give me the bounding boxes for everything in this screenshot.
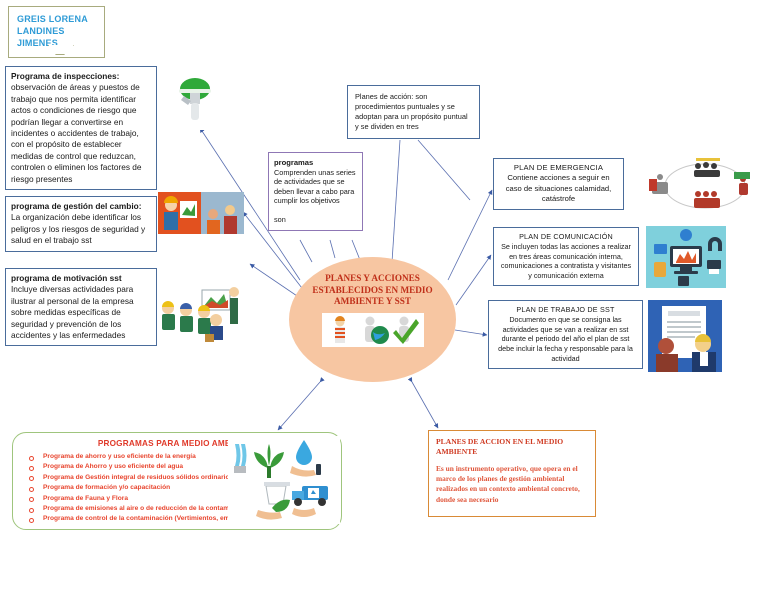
central-topic-ellipse: PLANES Y ACCIONES ESTABLECIDOS EN MEDIO …	[289, 257, 456, 382]
green-helmet-flashlight-image	[170, 70, 222, 130]
central-topic-title: PLANES Y ACCIONES ESTABLECIDOS EN MEDIO …	[310, 273, 436, 308]
safety-training-presentation-image	[158, 192, 244, 234]
box-planes-de-accion: Planes de acción: son procedimientos pun…	[347, 85, 480, 139]
box-plan-de-comunicacion: PLAN DE COMUNICACIÓN Se incluyen todas l…	[493, 227, 639, 286]
box-motivacion-body: Incluye diversas actividades para ilustr…	[11, 284, 134, 340]
box-comunicacion-body: Se incluyen todas las acciones a realiza…	[501, 242, 631, 280]
box-programa-motivacion-sst: programa de motivación sst Incluye diver…	[5, 268, 157, 346]
box-comunicacion-heading: PLAN DE COMUNICACIÓN	[499, 232, 633, 242]
work-plan-signing-image	[648, 300, 722, 372]
box-trabajo-sst-body: Documento en que se consigna las activid…	[498, 315, 633, 363]
emergency-cycle-diagram-image	[646, 152, 764, 215]
box-plan-de-emergencia: PLAN DE EMERGENCIA Contiene acciones a s…	[493, 158, 624, 210]
planes-medio-title: PLANES DE ACCION EN EL MEDIO AMBIENTE	[436, 437, 588, 457]
planes-medio-body: Es un instrumento operativo, que opera e…	[436, 464, 588, 505]
box-planes-accion-body: Planes de acción: son procedimientos pun…	[355, 92, 468, 131]
box-gestion-heading: programa de gestión del cambio:	[11, 201, 151, 212]
box-programas-footer: son	[274, 215, 357, 225]
box-planes-accion-medio-ambiente: PLANES DE ACCION EN EL MEDIO AMBIENTE Es…	[428, 430, 596, 517]
box-trabajo-sst-heading: PLAN DE TRABAJO DE SST	[494, 305, 637, 315]
box-motivacion-heading: programa de motivación sst	[11, 273, 151, 284]
author-line-1: GREIS LORENA	[17, 13, 98, 25]
eco-icons-image	[228, 436, 340, 524]
classroom-workers-meeting-image	[158, 272, 248, 344]
mindmap-canvas: GREIS LORENA LANDINES JIMENES Programa d…	[0, 0, 768, 594]
box-emergencia-heading: PLAN DE EMERGENCIA	[499, 163, 618, 173]
box-inspecciones-body: observación de áreas y puestos de trabaj…	[11, 82, 142, 183]
box-gestion-body: La organización debe identificar los pel…	[11, 212, 145, 245]
box-programas: programas Comprenden unas series de acti…	[268, 152, 363, 231]
box-programas-heading: programas	[274, 158, 357, 168]
worker-globe-check-image	[322, 313, 424, 347]
box-plan-de-trabajo-sst: PLAN DE TRABAJO DE SST Documento en que …	[488, 300, 643, 369]
box-programa-inspecciones: Programa de inspecciones: observación de…	[5, 66, 157, 190]
box-emergencia-body: Contiene acciones a seguir en caso de si…	[506, 173, 612, 203]
box-programas-body: Comprenden unas series de actividades qu…	[274, 168, 356, 206]
communication-devices-image	[646, 226, 726, 288]
box-inspecciones-heading: Programa de inspecciones:	[11, 71, 151, 82]
box-programa-gestion-cambio: programa de gestión del cambio: La organ…	[5, 196, 157, 252]
